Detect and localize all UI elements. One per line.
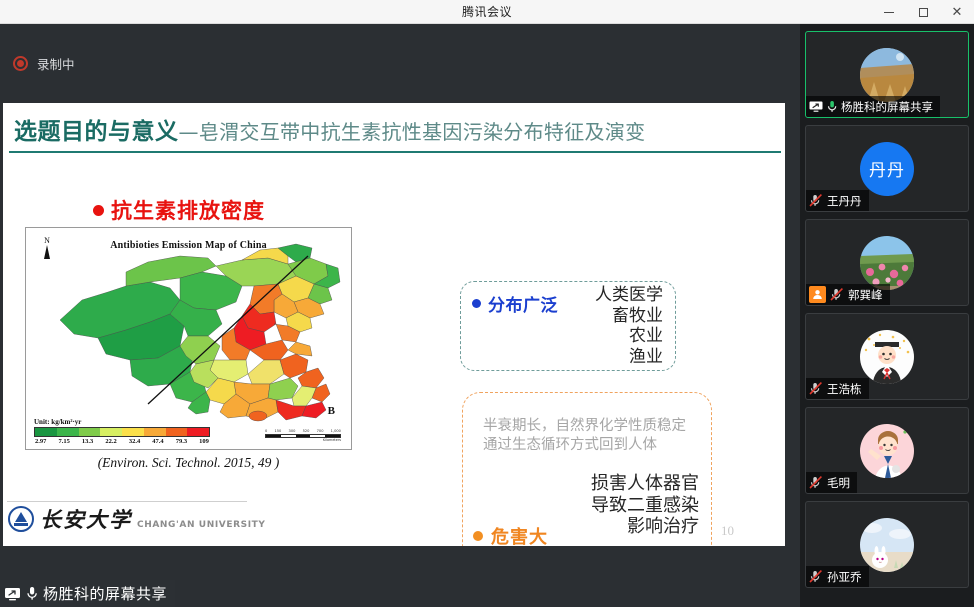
participant-name-strip: 郭巽峰 (806, 284, 890, 305)
map-panel-label: B (328, 405, 335, 417)
harm-note: 半衰期长，自然界化学性质稳定通过生态循环方式回到人体 (483, 417, 698, 455)
scale-tick: 0 (265, 429, 267, 433)
list-item: 导致二重感染 (591, 495, 699, 517)
participant-tile[interactable]: 丹丹 王丹丹 (805, 125, 969, 212)
scale-tick: 520 (303, 429, 310, 433)
window-controls: ✕ (872, 0, 974, 24)
shared-slide: 选题目的与意义—皂渭交互带中抗生素抗性基因污染分布特征及演变 抗生素排放密度 N… (3, 103, 785, 546)
legend-tick: 109 (199, 438, 209, 445)
avatar (860, 236, 914, 290)
legend-tick: 79.3 (176, 438, 187, 445)
microphone-icon (26, 586, 38, 601)
bullet-icon (93, 205, 104, 216)
screen-share-label: 杨胜科的屏幕共享 (43, 583, 167, 604)
map-scale-bar: 0 150 300 520 700 1,000 Kilometers (265, 429, 341, 442)
participant-name-strip: 孙亚乔 (806, 566, 869, 587)
slide-title-sub: —皂渭交互带中抗生素抗性基因污染分布特征及演变 (179, 120, 646, 144)
bullet-icon (472, 299, 481, 308)
list-item: 渔业 (595, 347, 663, 368)
screen-share-icon (809, 101, 823, 112)
record-dot-icon (13, 56, 28, 71)
participant-name: 毛明 (827, 475, 850, 491)
participant-tile[interactable]: 毛明 (805, 407, 969, 494)
participant-name: 杨胜科的屏幕共享 (841, 99, 933, 115)
harm-label-row: 危害大 (473, 523, 548, 546)
screen-share-banner: 杨胜科的屏幕共享 (0, 580, 175, 607)
distribution-callout: 分布广泛 人类医学 畜牧业 农业 渔业 (460, 281, 676, 371)
china-choropleth (30, 242, 349, 422)
china-emission-map: N Antibioties Emission Map of China (25, 227, 352, 450)
avatar (860, 330, 914, 384)
list-item: 损害人体器官 (591, 473, 699, 495)
minimize-button[interactable] (872, 0, 906, 24)
recording-indicator: 录制中 (0, 24, 800, 102)
list-item: 农业 (595, 326, 663, 347)
legend-tick: 22.2 (105, 438, 116, 445)
tencent-meeting-window: 腾讯会议 ✕ 录制中 选题目的与意义—皂渭交互带中抗生素抗性基因污染分布特征及演… (0, 0, 974, 607)
list-item: 畜牧业 (595, 306, 663, 327)
legend-tick-labels: 2.97 7.15 13.3 22.2 32.4 47.4 79.3 109 (34, 438, 210, 445)
participant-name: 王丹丹 (827, 193, 862, 209)
legend-color-bar (34, 427, 210, 437)
university-seal-icon (8, 506, 34, 532)
avatar-initials: 丹丹 (860, 142, 914, 196)
harm-items: 损害人体器官 导致二重感染 影响治疗 (591, 473, 699, 538)
legend-tick: 2.97 (35, 438, 46, 445)
participant-tile[interactable]: 郭巽峰 (805, 219, 969, 306)
recording-label: 录制中 (37, 54, 75, 73)
legend-unit-label: Unit: kg/km²·yr (34, 418, 210, 426)
legend-tick: 32.4 (129, 438, 140, 445)
participant-name-strip: 王丹丹 (806, 190, 869, 211)
microphone-icon (827, 100, 837, 113)
participant-rail[interactable]: 杨胜科的屏幕共享 丹丹 王丹丹 (800, 24, 974, 607)
scale-tick: 300 (289, 429, 296, 433)
avatar (860, 424, 914, 478)
host-badge-icon (809, 286, 826, 303)
scale-tick: 150 (274, 429, 281, 433)
microphone-muted-icon (809, 570, 823, 583)
window-titlebar: 腾讯会议 ✕ (0, 0, 974, 24)
slide-title: 选题目的与意义—皂渭交互带中抗生素抗性基因污染分布特征及演变 (14, 112, 645, 146)
university-name-en: CHANG'AN UNIVERSITY (137, 520, 266, 532)
legend-tick: 47.4 (152, 438, 163, 445)
participant-tile[interactable]: 王浩栋 (805, 313, 969, 400)
participant-name: 郭巽峰 (848, 287, 883, 303)
participant-name: 孙亚乔 (827, 569, 862, 585)
distribution-label: 分布广泛 (488, 291, 558, 316)
window-title: 腾讯会议 (462, 3, 512, 20)
footer-divider (7, 501, 247, 502)
page-number: 10 (721, 523, 734, 539)
microphone-muted-icon (809, 194, 823, 207)
list-item: 影响治疗 (591, 516, 699, 538)
participant-tile[interactable]: 杨胜科的屏幕共享 (805, 31, 969, 118)
avatar: 丹丹 (860, 142, 914, 196)
participant-tile[interactable]: 孙亚乔 (805, 501, 969, 588)
emission-heading: 抗生素排放密度 (93, 195, 265, 225)
distribution-items: 人类医学 畜牧业 农业 渔业 (595, 285, 663, 368)
legend-tick: 13.3 (82, 438, 93, 445)
avatar (860, 518, 914, 572)
university-logo: 长安大学 CHANG'AN UNIVERSITY (8, 506, 266, 532)
list-item: 人类医学 (595, 285, 663, 306)
close-button[interactable]: ✕ (940, 0, 974, 24)
maximize-button[interactable] (906, 0, 940, 24)
meeting-stage: 录制中 选题目的与意义—皂渭交互带中抗生素抗性基因污染分布特征及演变 抗生素排放… (0, 24, 800, 607)
participant-name-strip: 王浩栋 (806, 378, 869, 399)
title-divider (9, 151, 781, 153)
participant-name-strip: 杨胜科的屏幕共享 (806, 96, 940, 117)
scale-tick-labels: 0 150 300 520 700 1,000 (265, 429, 341, 433)
avatar (860, 48, 914, 102)
map-citation: (Environ. Sci. Technol. 2015, 49 ) (25, 455, 352, 471)
screen-share-icon (4, 587, 21, 601)
participant-name: 王浩栋 (827, 381, 862, 397)
slide-title-main: 选题目的与意义 (14, 119, 179, 145)
scale-unit-label: Kilometers (265, 438, 341, 442)
microphone-muted-icon (830, 288, 844, 301)
harm-callout: 半衰期长，自然界化学性质稳定通过生态循环方式回到人体 损害人体器官 导致二重感染… (462, 392, 712, 546)
harm-label: 危害大 (491, 523, 548, 546)
microphone-muted-icon (809, 476, 823, 489)
emission-heading-label: 抗生素排放密度 (111, 195, 265, 225)
microphone-muted-icon (809, 382, 823, 395)
legend-tick: 7.15 (58, 438, 69, 445)
participant-name-strip: 毛明 (806, 472, 857, 493)
university-name-cn: 长安大学 (40, 509, 132, 530)
bullet-icon (473, 531, 483, 541)
scale-tick: 700 (317, 429, 324, 433)
scale-tick: 1,000 (331, 429, 341, 433)
map-legend: Unit: kg/km²·yr 2.97 7.15 13.3 22.2 32.4… (34, 418, 210, 445)
distribution-label-row: 分布广泛 (472, 291, 558, 316)
